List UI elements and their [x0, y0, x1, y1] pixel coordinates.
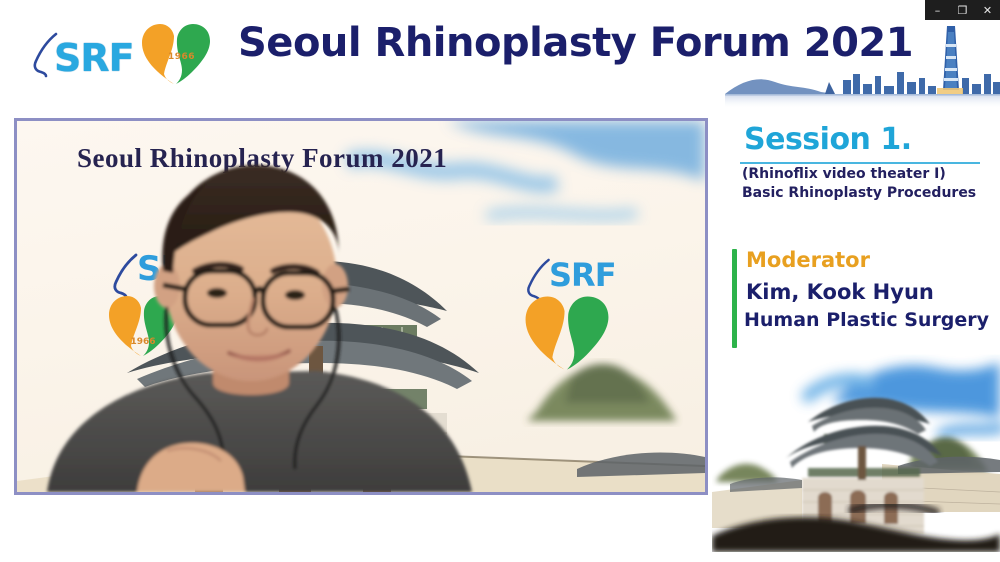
srf-brand-logo: SRF 1966 [18, 14, 213, 90]
video-tile[interactable]: SRF 1966 SRF Seoul Rhinoplasty Forum [14, 118, 708, 495]
minimize-icon[interactable]: – [927, 5, 949, 16]
session-title-underline [740, 162, 980, 164]
moderator-affiliation: Human Plastic Surgery [744, 309, 989, 331]
session-subtitle-1: (Rhinoflix video theater I) [742, 166, 946, 182]
participant-video-figure [17, 121, 705, 492]
video-feed: SRF 1966 SRF Seoul Rhinoplasty Forum [17, 121, 705, 492]
close-icon[interactable]: ✕ [977, 5, 999, 16]
srf-wordmark: SRF [54, 36, 134, 80]
header-bar: SRF 1966 Seoul Rhinoplasty Forum 2021 [0, 0, 1000, 110]
window-controls[interactable]: – ❐ ✕ [925, 0, 1000, 20]
presentation-stage: SRF 1966 Seoul Rhinoplasty Forum 2021 [0, 0, 1000, 562]
session-subtitle-2: Basic Rhinoplasty Procedures [742, 185, 976, 201]
moderator-label: Moderator [746, 248, 870, 272]
maximize-icon[interactable]: ❐ [952, 5, 974, 16]
seoul-skyline-icon [725, 14, 1000, 110]
session-info-panel: Session 1. (Rhinoflix video theater I) B… [726, 112, 1000, 362]
session-title: Session 1. [744, 122, 912, 157]
logo-year-label: 1966 [168, 52, 195, 62]
moderator-accent-bar [732, 249, 737, 348]
palace-watercolor-art [712, 352, 1000, 552]
moderator-name: Kim, Kook Hyun [746, 280, 934, 304]
